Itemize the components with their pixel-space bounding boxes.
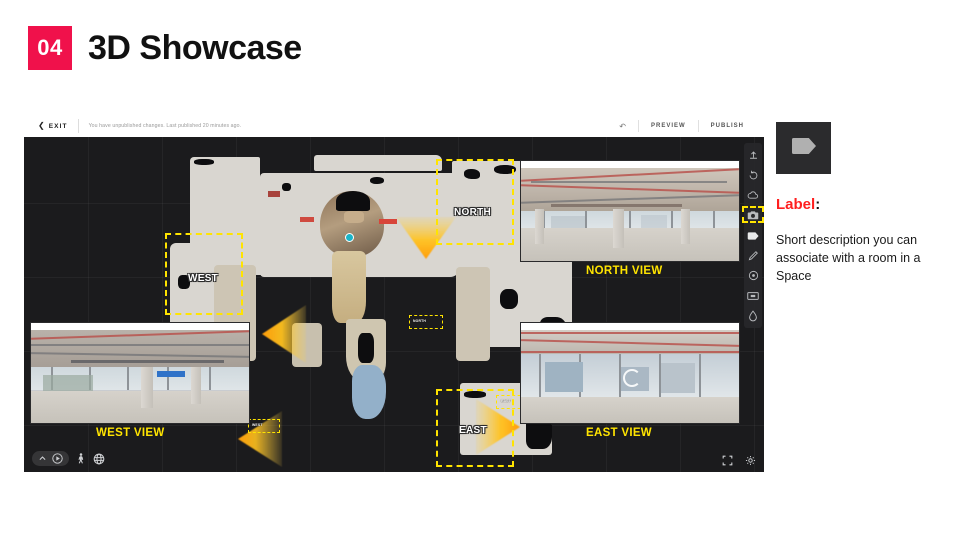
exit-button-label: EXIT (49, 123, 68, 130)
legend-title-colon: : (815, 196, 820, 213)
view-reticle-icon (623, 369, 641, 387)
cloud-icon[interactable] (747, 189, 760, 202)
floorplan-geometry (314, 155, 442, 171)
photo-chrome-bar (521, 161, 739, 168)
caption-west-view: WEST VIEW (96, 427, 165, 439)
publish-button[interactable]: PUBLISH (699, 123, 756, 129)
editor-canvas[interactable]: NORTH EAST WEST NORTH WEST EAST (24, 137, 764, 472)
arrow-west-icon[interactable] (260, 305, 308, 363)
topbar-actions: ↶ PREVIEW PUBLISH (607, 120, 756, 132)
walk-person-icon[interactable] (76, 453, 86, 465)
photo-chrome-bar (31, 323, 249, 330)
legend-description: Short description you can associate with… (776, 231, 946, 285)
label-tag-icon[interactable] (747, 229, 760, 242)
arrow-label-west: WEST (252, 423, 263, 427)
preview-button[interactable]: PREVIEW (639, 123, 698, 129)
photo-east-view[interactable] (520, 322, 740, 424)
upload-icon[interactable] (747, 149, 760, 162)
frame-icon[interactable] (747, 289, 760, 302)
playback-pill[interactable] (32, 451, 69, 466)
floorplan-geometry (500, 289, 518, 309)
room-tag-east: EAST (459, 425, 487, 436)
showcase-editor-window: ❮ EXIT You have unpublished changes. Las… (24, 115, 764, 472)
editor-tool-rail[interactable] (744, 143, 762, 328)
caption-north-view: NORTH VIEW (586, 265, 662, 277)
floorplan-geometry (358, 333, 374, 363)
floorplan-geometry (194, 159, 214, 165)
arrow-label-north: NORTH (413, 319, 426, 323)
target-icon[interactable] (747, 269, 760, 282)
exit-button[interactable]: ❮ EXIT (38, 122, 68, 130)
topbar-divider (78, 119, 79, 133)
dollhouse-icon[interactable] (93, 453, 105, 465)
tool-rail-selection-highlight (742, 206, 764, 223)
pencil-icon[interactable] (747, 249, 760, 262)
photo-image (521, 168, 739, 261)
gear-icon[interactable] (745, 455, 756, 466)
floorplan-geometry (456, 267, 490, 361)
floorplan-geometry (370, 177, 384, 184)
droplet-icon[interactable] (747, 309, 760, 322)
floorplan-geometry (300, 217, 314, 222)
floorplan-geometry (352, 365, 386, 419)
photo-north-view[interactable] (520, 160, 740, 262)
legend-title-key: Label (776, 196, 815, 213)
chevron-left-icon: ❮ (38, 122, 45, 130)
play-icon[interactable] (52, 453, 63, 464)
label-tag-icon (791, 137, 817, 160)
room-tag-west: WEST (188, 273, 218, 284)
floorplan-geometry (268, 191, 280, 197)
view-mode-toolbar[interactable] (32, 451, 105, 466)
floorplan-geometry (379, 219, 397, 224)
canvas-controls[interactable] (722, 455, 756, 466)
floorplan-geometry (332, 251, 366, 323)
photo-chrome-bar (521, 323, 739, 330)
floorplan-geometry (344, 211, 364, 223)
legend-swatch (776, 122, 831, 174)
photo-west-view[interactable] (30, 322, 250, 424)
legend-panel: Label: Short description you can associa… (776, 122, 946, 285)
publish-status-text: You have unpublished changes. Last publi… (89, 123, 242, 129)
current-position-marker[interactable] (345, 233, 354, 242)
slide-header: 04 3D Showcase (28, 26, 302, 70)
editor-topbar: ❮ EXIT You have unpublished changes. Las… (24, 115, 764, 138)
photo-image (521, 330, 739, 423)
photo-image (31, 330, 249, 423)
room-tag-north: NORTH (454, 207, 491, 218)
label-highlight-north[interactable] (436, 159, 514, 245)
legend-title: Label: (776, 196, 946, 213)
slide-number-badge: 04 (28, 26, 72, 70)
floorplan-geometry (336, 191, 370, 211)
rotate-icon[interactable] (747, 169, 760, 182)
fullscreen-icon[interactable] (722, 455, 733, 466)
chevron-up-icon[interactable] (38, 454, 47, 463)
caption-east-view: EAST VIEW (586, 427, 652, 439)
floorplan-geometry (282, 183, 291, 191)
undo-icon[interactable]: ↶ (607, 122, 638, 131)
page-title: 3D Showcase (88, 31, 302, 65)
